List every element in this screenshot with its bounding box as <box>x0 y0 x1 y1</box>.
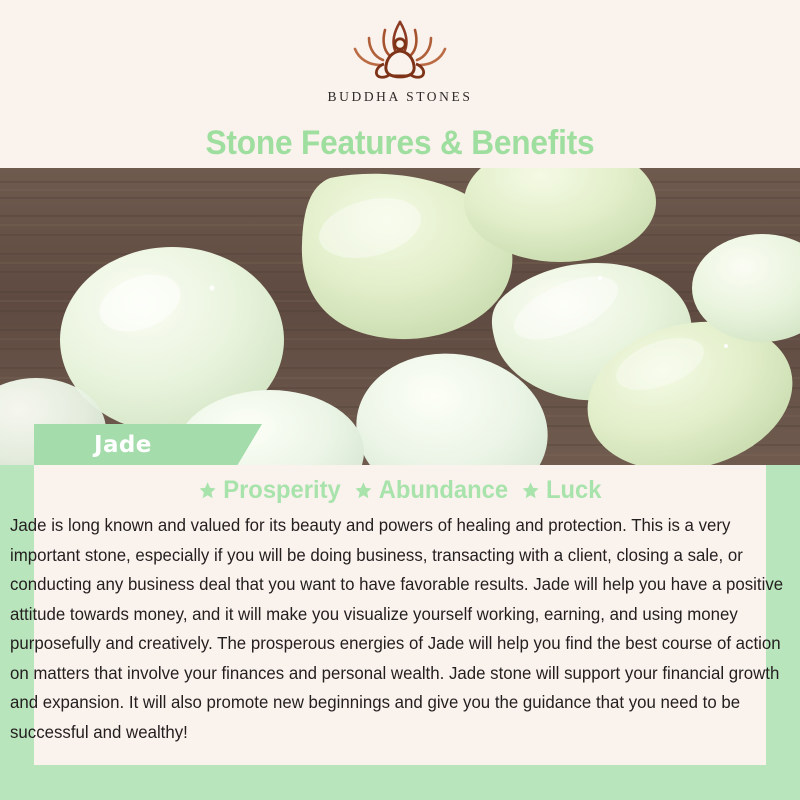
stone-description: Jade is long known and valued for its be… <box>10 511 788 747</box>
decoration-bottom-band <box>0 762 800 800</box>
benefits-list: Prosperity Abundance Luck <box>52 476 747 505</box>
star-icon <box>521 481 539 500</box>
star-icon <box>199 481 217 500</box>
benefit-item: Prosperity <box>199 476 341 505</box>
brand-wordmark: BUDDHA STONES <box>328 89 473 105</box>
stone-name-label: Jade <box>94 432 152 458</box>
infographic-card: BUDDHA STONES Stone Features & Benefits <box>0 0 800 800</box>
benefit-label: Prosperity <box>223 476 340 505</box>
header-panel: BUDDHA STONES Stone Features & Benefits <box>34 0 766 168</box>
lotus-meditation-icon <box>325 16 475 84</box>
header: BUDDHA STONES Stone Features & Benefits <box>0 0 800 168</box>
stone-photo-illustration <box>0 168 800 465</box>
benefit-label: Abundance <box>379 476 508 505</box>
benefit-label: Luck <box>546 476 601 505</box>
stone-name-tag: Jade <box>34 424 262 466</box>
stone-photo <box>0 168 800 465</box>
benefit-item: Luck <box>521 476 601 505</box>
brand-logo: BUDDHA STONES <box>34 16 766 105</box>
page-title: Stone Features & Benefits <box>60 124 741 163</box>
content-panel: Prosperity Abundance Luck Jade is long k… <box>34 465 766 765</box>
star-icon <box>354 481 372 500</box>
benefit-item: Abundance <box>354 476 508 505</box>
